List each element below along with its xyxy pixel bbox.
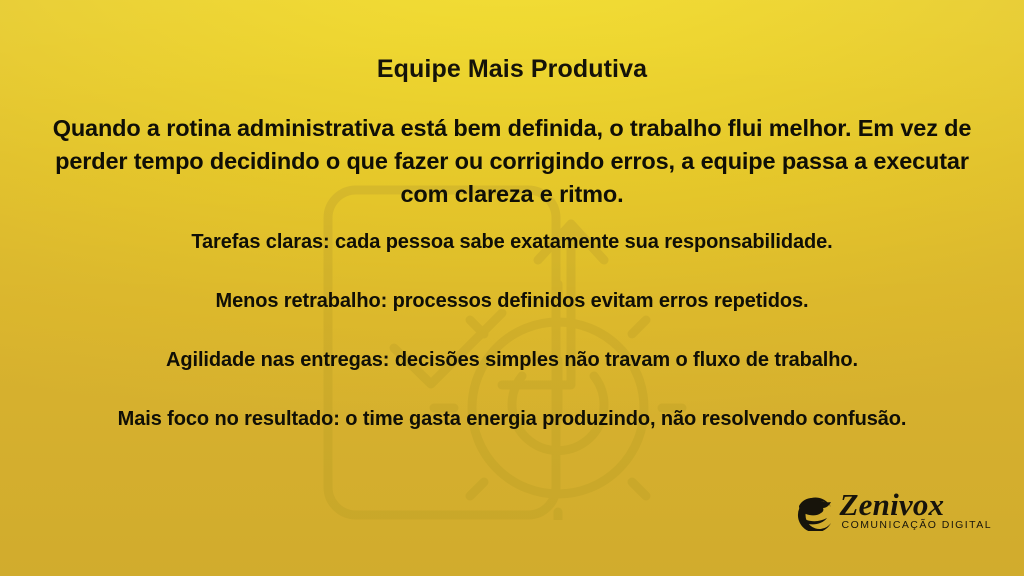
logo-text-block: Zenivox COMUNICAÇÃO DIGITAL bbox=[840, 490, 992, 532]
list-item: Menos retrabalho: processos definidos ev… bbox=[34, 291, 990, 350]
lead-paragraph: Quando a rotina administrativa está bem … bbox=[46, 112, 978, 211]
list-item: Mais foco no resultado: o time gasta ene… bbox=[34, 409, 990, 468]
logo-tagline: COMUNICAÇÃO DIGITAL bbox=[840, 519, 992, 532]
logo-wordmark: Zenivox bbox=[840, 490, 945, 519]
page-title: Equipe Mais Produtiva bbox=[0, 55, 1024, 84]
slide-canvas: Equipe Mais Produtiva Quando a rotina ad… bbox=[0, 0, 1024, 576]
list-item: Tarefas claras: cada pessoa sabe exatame… bbox=[34, 232, 990, 291]
fox-head-circle-icon bbox=[793, 491, 835, 531]
benefit-list: Tarefas claras: cada pessoa sabe exatame… bbox=[34, 232, 990, 468]
list-item: Agilidade nas entregas: decisões simples… bbox=[34, 350, 990, 409]
brand-logo: Zenivox COMUNICAÇÃO DIGITAL bbox=[793, 490, 992, 532]
